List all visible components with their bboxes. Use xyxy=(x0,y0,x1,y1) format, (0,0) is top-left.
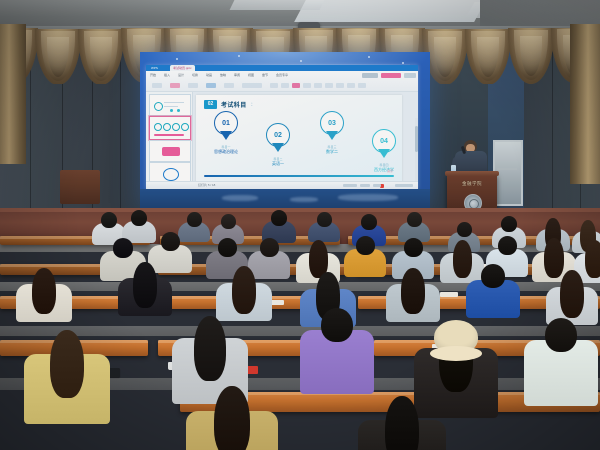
slide-section-badge: 02 xyxy=(204,100,217,109)
ribbon-icon-4[interactable] xyxy=(314,83,322,88)
app-workarea: 02 考试科目 ： 01科目一思想政治理论02科目二英语一03科目三数学二04科… xyxy=(146,92,418,189)
person-long-hair xyxy=(32,268,56,314)
person-head xyxy=(271,210,287,226)
ribbon-tab-9[interactable]: 会员专享 xyxy=(276,73,288,77)
ribbon-toolbar[interactable]: 开始插入设计切换动画放映审阅视图章节会员专享 xyxy=(146,71,418,92)
ribbon-icon-5[interactable] xyxy=(325,83,333,88)
pin-subject-name: 思想政治理论 xyxy=(214,149,238,154)
audience-person xyxy=(386,268,440,330)
pin-tail-icon xyxy=(326,131,338,140)
person-head xyxy=(457,222,472,237)
person-head xyxy=(218,238,237,257)
ribbon-tab-3[interactable]: 切换 xyxy=(192,73,198,77)
audience-person xyxy=(186,386,278,450)
ribbon-group-1[interactable] xyxy=(170,83,180,88)
stage-edge xyxy=(0,208,600,212)
status-slide-info: 幻灯片 5 / 18 xyxy=(198,183,215,187)
slide-heading: 考试科目 xyxy=(221,100,247,109)
person-head xyxy=(404,238,423,257)
person-head xyxy=(131,210,147,226)
ribbon-icon-3[interactable] xyxy=(303,83,311,88)
pin-tail-icon xyxy=(378,149,390,158)
person-head xyxy=(498,236,517,255)
ribbon-icon-7[interactable] xyxy=(347,83,355,88)
person-long-hair xyxy=(401,268,425,314)
slide-pin-list: 01科目一思想政治理论02科目二英语一03科目三数学二04科目四西方经济学 xyxy=(196,109,402,171)
ribbon-icon-8[interactable] xyxy=(358,83,366,88)
curtain-right xyxy=(570,24,600,184)
person-head xyxy=(221,214,236,229)
ribbon-tab-2[interactable]: 设计 xyxy=(178,73,184,77)
ceiling-light-panel xyxy=(230,0,325,10)
ribbon-tab-8[interactable]: 章节 xyxy=(262,73,268,77)
pin-number: 01 xyxy=(222,120,230,127)
ceiling-light-panel xyxy=(294,0,486,22)
curtain-left xyxy=(0,24,26,164)
slide-canvas[interactable]: 02 考试科目 ： 01科目一思想政治理论02科目二英语一03科目三数学二04科… xyxy=(196,95,402,183)
person-long-hair xyxy=(560,270,584,318)
ribbon-tab-7[interactable]: 视图 xyxy=(248,73,254,77)
pin-caption: 科目一思想政治理论 xyxy=(214,145,238,154)
ribbon-group-0[interactable] xyxy=(152,83,162,88)
status-right-controls[interactable] xyxy=(343,184,415,188)
slide-heading-group: 02 考试科目 ： xyxy=(204,100,256,109)
pin-tail-icon xyxy=(220,131,232,140)
person-head xyxy=(501,216,517,232)
ribbon-right-actions[interactable] xyxy=(362,73,416,79)
ribbon-row-bottom[interactable] xyxy=(148,82,416,90)
desk-object-paper xyxy=(440,292,458,297)
slide-thumbnail[interactable] xyxy=(149,94,191,116)
person-head xyxy=(161,232,180,251)
slide-thumbnail-selected[interactable] xyxy=(149,116,191,140)
audience-person xyxy=(118,262,172,324)
person-long-hair xyxy=(133,262,157,308)
audience-person xyxy=(300,308,374,406)
person-long-hair xyxy=(232,266,256,314)
person-head xyxy=(407,212,422,227)
ribbon-tab-4[interactable]: 动画 xyxy=(206,73,212,77)
person-head xyxy=(101,212,117,228)
audience-person xyxy=(358,396,446,450)
curtain-swag xyxy=(465,29,511,84)
pin-number: 03 xyxy=(328,120,336,127)
ribbon-icon-1[interactable] xyxy=(281,83,289,88)
ribbon-tab-5[interactable]: 放映 xyxy=(220,73,226,77)
app-status-bar[interactable]: 幻灯片 5 / 18 xyxy=(146,181,418,189)
ribbon-group-3[interactable] xyxy=(206,83,216,88)
audience-person xyxy=(24,330,110,436)
slide-watermark: 演示 xyxy=(387,169,393,173)
vertical-scrollbar[interactable] xyxy=(415,118,418,189)
pin-subject-name: 数学二 xyxy=(326,149,338,154)
person-head xyxy=(481,264,505,288)
ribbon-group-4[interactable] xyxy=(224,83,234,88)
person-head xyxy=(187,212,202,227)
person-head xyxy=(361,214,377,230)
pin-number: 02 xyxy=(274,132,282,139)
pin-number: 04 xyxy=(380,138,388,145)
slide-thumbnail-pane[interactable] xyxy=(146,92,193,189)
audience-person xyxy=(16,268,72,330)
pin-caption: 科目二英语一 xyxy=(272,157,284,166)
ribbon-tab-6[interactable]: 审阅 xyxy=(234,73,240,77)
curtain-swag xyxy=(78,29,124,84)
ribbon-icon-2[interactable] xyxy=(292,83,300,88)
pin-caption: 科目三数学二 xyxy=(326,145,338,154)
pin-tail-icon xyxy=(272,143,284,152)
person-head xyxy=(260,238,279,257)
curtain-swag xyxy=(508,28,554,84)
person-long-hair xyxy=(385,396,419,450)
presentation-app-window[interactable]: WPS 考试动员.pptx 开始插入设计切换动画放映审阅视图章节会员专享 xyxy=(146,65,418,189)
person-head xyxy=(317,212,332,227)
pin-subject-name: 英语一 xyxy=(272,161,284,166)
podium-board-text: 金融学院 xyxy=(447,181,497,187)
person-head xyxy=(545,318,577,352)
podium-area: 金融学院 xyxy=(444,138,504,218)
ribbon-icon-0[interactable] xyxy=(270,83,278,88)
curtain-swag xyxy=(35,29,81,84)
side-cabinet xyxy=(60,170,100,204)
ribbon-tab-0[interactable]: 开始 xyxy=(150,73,156,77)
slide-thumbnail[interactable] xyxy=(149,140,191,162)
slide-pin-04: 04科目四西方经济学 xyxy=(372,129,396,153)
ribbon-group-5[interactable] xyxy=(242,83,262,88)
person-long-hair xyxy=(194,316,226,381)
slide-heading-suffix: ： xyxy=(251,101,256,108)
slide-pin-02: 02科目二英语一 xyxy=(266,123,290,147)
slide-pin-03: 03科目三数学二 xyxy=(320,111,344,135)
slide-pin-01: 01科目一思想政治理论 xyxy=(214,111,238,135)
ribbon-icon-6[interactable] xyxy=(336,83,344,88)
podium-top-surface xyxy=(445,171,499,176)
person-long-hair xyxy=(50,330,84,398)
person-long-hair xyxy=(214,386,250,450)
ribbon-group-2[interactable] xyxy=(188,83,198,88)
person-head xyxy=(321,308,353,342)
person-head xyxy=(356,236,375,255)
audience-person xyxy=(466,264,520,326)
ribbon-tab-1[interactable]: 插入 xyxy=(164,73,170,77)
audience-person xyxy=(524,318,598,418)
lecture-hall-photo: WPS 考试动员.pptx 开始插入设计切换动画放映审阅视图章节会员专享 xyxy=(0,0,600,450)
slide-bottom-rule xyxy=(204,175,394,177)
person-head xyxy=(113,238,133,258)
